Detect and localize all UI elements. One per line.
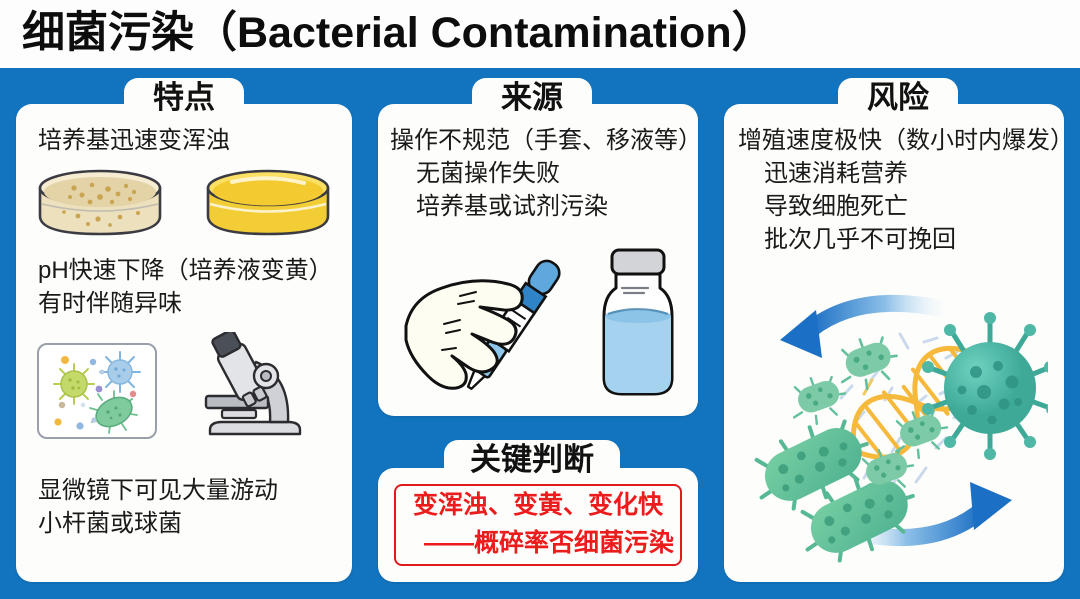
bacteria-growth-illustration: [740, 272, 1048, 568]
tab-features-label: 特点: [124, 78, 244, 118]
features-text-block-2: pH快速下降（培养液变黄） 有时伴随异味: [38, 254, 352, 320]
tab-features[interactable]: 特点: [124, 78, 244, 110]
header-bar: 细菌污染（Bacterial Contamination）: [0, 0, 1080, 68]
tab-key-judgement-label: 关键判断: [444, 440, 620, 480]
hand-holding-pipette-illustration: [402, 254, 588, 406]
reagent-vial-illustration: [586, 244, 690, 404]
risk-line-4: 批次几乎不可挽回: [738, 223, 1064, 256]
microbe-slide-illustration: [36, 342, 158, 440]
tab-risk[interactable]: 风险: [838, 78, 958, 110]
panel-sources: 操作不规范（手套、移液等） 无菌操作失败 培养基或试剂污染: [378, 104, 698, 416]
sources-line-1: 操作不规范（手套、移液等）: [390, 124, 698, 157]
petri-dishes-illustration: [34, 164, 334, 246]
tab-key-judgement[interactable]: 关键判断: [444, 440, 620, 474]
sources-text-block: 操作不规范（手套、移液等） 无菌操作失败 培养基或试剂污染: [390, 124, 698, 223]
features-line-2: pH快速下降（培养液变黄）: [38, 254, 352, 287]
risk-line-3: 导致细胞死亡: [738, 190, 1064, 223]
tab-risk-label: 风险: [838, 78, 958, 118]
features-line-1: 培养基迅速变浑浊: [38, 124, 352, 157]
page-title: 细菌污染（Bacterial Contamination）: [22, 4, 775, 62]
tab-sources-label: 来源: [472, 78, 592, 118]
infographic-root: 细菌污染（Bacterial Contamination） 特点 培养基迅速变浑…: [0, 0, 1080, 599]
risk-line-1: 增殖速度极快（数小时内爆发）: [738, 124, 1064, 157]
features-text-block-1: 培养基迅速变浑浊: [38, 124, 352, 157]
risk-line-2: 迅速消耗营养: [738, 157, 1064, 190]
features-line-3: 有时伴随异味: [38, 287, 352, 320]
features-line-4: 显微镜下可见大量游动: [38, 474, 352, 507]
key-judgement-alert-box: 变浑浊、变黄、变化快 ——概碎率否细菌污染: [394, 484, 682, 566]
features-line-5: 小杆菌或球菌: [38, 507, 352, 540]
panel-key-judgement: 变浑浊、变黄、变化快 ——概碎率否细菌污染: [378, 468, 698, 582]
panel-features: 培养基迅速变浑浊: [16, 104, 352, 582]
microscope-icon: [184, 332, 320, 440]
panel-risk: 增殖速度极快（数小时内爆发） 迅速消耗营养 导致细胞死亡 批次几乎不可挽回: [724, 104, 1064, 582]
features-text-block-3: 显微镜下可见大量游动 小杆菌或球菌: [38, 474, 352, 540]
sources-line-3: 培养基或试剂污染: [390, 190, 698, 223]
risk-text-block: 增殖速度极快（数小时内爆发） 迅速消耗营养 导致细胞死亡 批次几乎不可挽回: [738, 124, 1064, 256]
tab-sources[interactable]: 来源: [472, 78, 592, 110]
key-judgement-line-1: 变浑浊、变黄、变化快: [396, 486, 680, 524]
sources-line-2: 无菌操作失败: [390, 157, 698, 190]
key-judgement-line-2: ——概碎率否细菌污染: [396, 524, 680, 562]
